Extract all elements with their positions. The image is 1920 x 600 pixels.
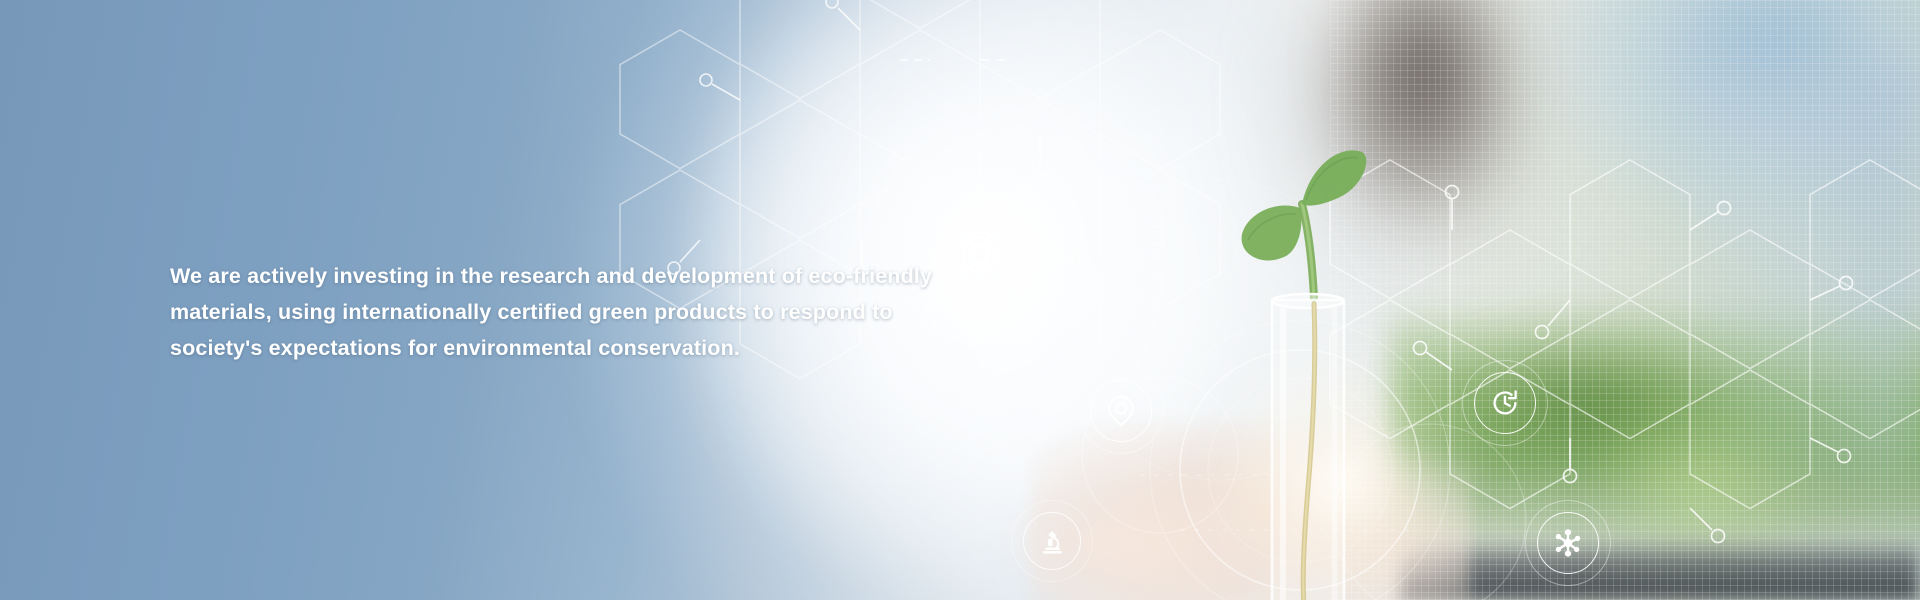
headline-line-3: society's expectations for environmental… [170,330,970,366]
clock-history-icon [1490,388,1520,418]
headline-line-1: We are actively investing in the researc… [170,258,970,294]
history-icon-button[interactable] [1474,372,1536,434]
eco-materials-banner: We are actively investing in the researc… [0,0,1920,600]
molecule-icon-button[interactable] [1537,512,1599,574]
background-right-blue-wedge [1690,60,1920,480]
microscope-icon [1039,528,1066,555]
location-pin-icon [1108,396,1134,426]
location-icon-button[interactable] [1090,380,1152,442]
molecule-network-icon [1553,528,1583,558]
microscope-icon-button[interactable] [1023,512,1081,570]
test-tube-with-sprout [1236,108,1376,600]
banner-copy: We are actively investing in the researc… [170,258,970,366]
headline-line-2: materials, using internationally certifi… [170,294,970,330]
